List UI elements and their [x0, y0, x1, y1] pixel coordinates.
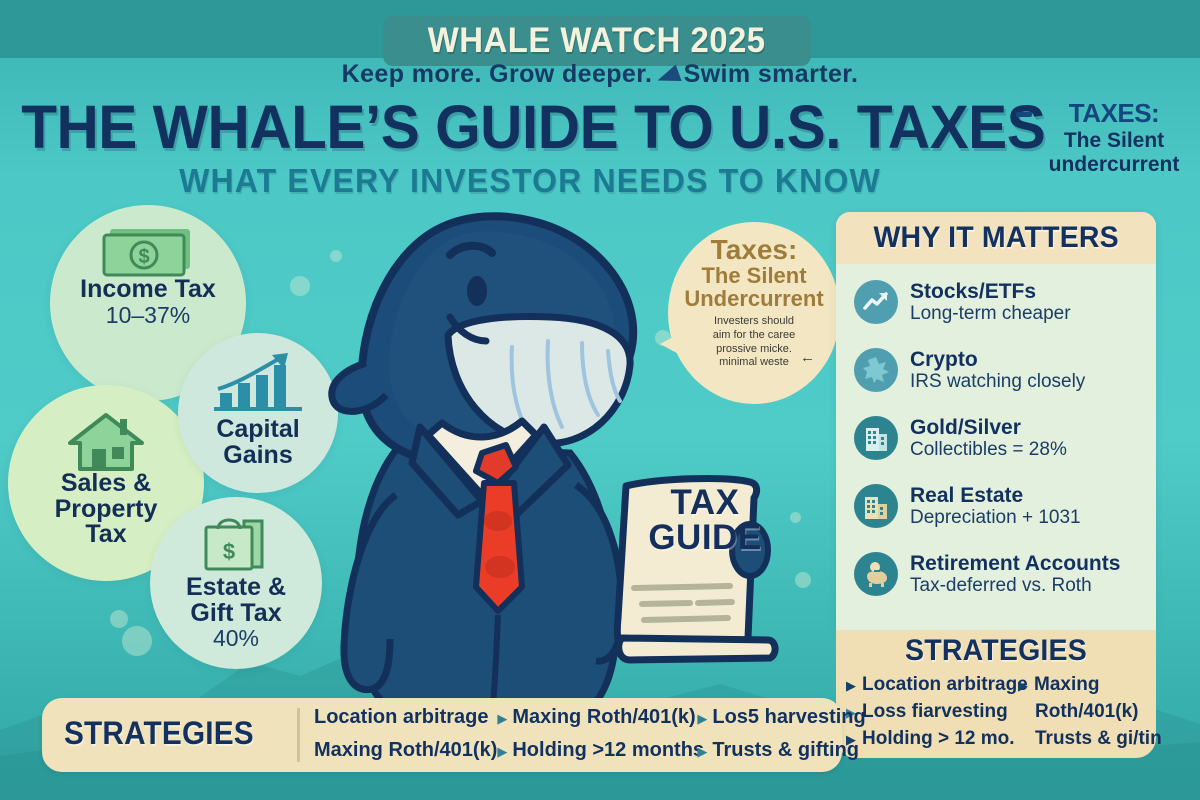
- tagline: Keep more. Grow deeper. ◀ Swim smarter.: [0, 60, 1200, 89]
- speech-line3: Undercurrent: [684, 287, 823, 310]
- strategy-label: Holding >12 months: [512, 739, 704, 762]
- corner-note: TAXES: The Silent undercurrent: [1034, 98, 1194, 177]
- list-item-title: Stocks/ETFs: [910, 280, 1071, 303]
- circle-title-line1: Sales &: [61, 471, 151, 497]
- whale-fin-icon: ◀: [654, 60, 683, 91]
- circle-title-line1: Capital: [216, 417, 299, 443]
- scroll-line2: GUIDE: [640, 520, 770, 555]
- piggy-bank-icon: [854, 552, 898, 596]
- strategy-item[interactable]: Roth/401(k): [1018, 701, 1148, 723]
- strategy-label: Location arbitrage: [862, 674, 1028, 696]
- banknote-icon: $: [50, 225, 246, 277]
- strategy-item[interactable]: ▶ Maxing Roth/401(k): [497, 706, 697, 733]
- strategy-item[interactable]: Trusts & gi/tin: [1018, 728, 1148, 750]
- list-item-title: Real Estate: [910, 484, 1081, 507]
- tagline-after: Swim smarter.: [684, 60, 859, 88]
- strategy-column: ▶ Los5 harvesting ▶ Trusts & gifting: [697, 706, 865, 766]
- speech-bubble: Taxes: The Silent Undercurrent Investers…: [668, 222, 840, 404]
- svg-text:$: $: [138, 246, 149, 268]
- strategy-label: Los5 harvesting: [712, 706, 865, 729]
- circle-value: 40%: [213, 626, 259, 650]
- deco-bubble: [122, 626, 152, 656]
- circle-title-line2: Property: [55, 497, 158, 523]
- triangle-bullet-icon: ▶: [846, 679, 856, 692]
- panel-header: WHY IT MATTERS: [836, 212, 1156, 264]
- list-item-sub: IRS watching closely: [910, 371, 1085, 393]
- infographic-canvas: WHALE WATCH 2025 Keep more. Grow deeper.…: [0, 0, 1200, 800]
- panel-title: WHY IT MATTERS: [873, 221, 1118, 255]
- crypto-star-icon: [854, 348, 898, 392]
- strategy-label: Roth/401(k): [1035, 701, 1138, 723]
- speech-small-line2: aim for the caree: [713, 329, 796, 343]
- bottom-strategies-title: STRATEGIES: [64, 715, 254, 752]
- page-title: THE WHALE’S GUIDE TO U.S. TAXES: [21, 92, 1039, 162]
- triangle-bullet-icon: ▶: [497, 745, 507, 758]
- strategy-item[interactable]: ▶ Holding > 12 mo.: [846, 728, 1018, 750]
- vertical-divider: [297, 708, 300, 762]
- strategy-item[interactable]: ▶ Location arbitrage: [846, 674, 1018, 696]
- list-item-sub: Long-term cheaper: [910, 303, 1071, 325]
- speech-small-line4: minimal weste: [713, 356, 796, 370]
- list-item-text: Crypto IRS watching closely: [910, 348, 1085, 393]
- tax-circle-estate-gift[interactable]: $ Estate & Gift Tax 40%: [150, 497, 322, 669]
- why-it-matters-panel: WHY IT MATTERS Stocks/ETFs Long-term che…: [836, 212, 1156, 630]
- list-item[interactable]: Crypto IRS watching closely: [836, 336, 1156, 404]
- right-strategies-title: STRATEGIES: [844, 630, 1148, 668]
- scroll-line1: TAX: [640, 485, 770, 520]
- bottom-strategies-columns: Location arbitrage Maxing Roth/401(k) ▶ …: [314, 706, 834, 766]
- why-it-matters-list: Stocks/ETFs Long-term cheaper Crypto IRS…: [836, 268, 1156, 608]
- strategy-item[interactable]: ▶ Holding >12 months: [497, 739, 697, 766]
- circle-title: Income Tax: [80, 277, 216, 303]
- strategy-label: Maxing Roth/401(k): [314, 739, 497, 762]
- speech-small-line1: Investers should: [713, 315, 796, 329]
- right-strategies-panel: STRATEGIES ▶ Location arbitrage ▶ Maxing…: [836, 630, 1156, 758]
- strategy-row: ▶ Location arbitrage ▶ Maxing: [846, 674, 1148, 701]
- strategy-row: ▶ Holding > 12 mo. Trusts & gi/tin: [846, 728, 1148, 755]
- circle-value: 10–37%: [106, 303, 190, 327]
- bottom-strategies-bar: STRATEGIES Location arbitrage Maxing Rot…: [42, 698, 842, 772]
- list-item[interactable]: Gold/Silver Collectibles = 28%: [836, 404, 1156, 472]
- shopping-bag-icon: $: [150, 513, 322, 573]
- building-icon: [854, 416, 898, 460]
- corner-note-line1: TAXES:: [1034, 98, 1194, 129]
- speech-small-text: Investers should aim for the caree pross…: [713, 315, 796, 370]
- list-item[interactable]: Stocks/ETFs Long-term cheaper: [836, 268, 1156, 336]
- triangle-bullet-icon: ▶: [697, 712, 707, 725]
- list-item-title: Crypto: [910, 348, 1085, 371]
- triangle-bullet-icon: ▶: [1018, 679, 1028, 692]
- strategy-row: ▶ Loss fiarvesting Roth/401(k): [846, 701, 1148, 728]
- circle-title-line2: Gains: [223, 443, 292, 469]
- tagline-before: Keep more. Grow deeper.: [342, 60, 653, 88]
- speech-line1: Taxes:: [711, 236, 798, 264]
- strategy-label: Location arbitrage: [314, 706, 488, 729]
- strategy-item[interactable]: Maxing Roth/401(k): [314, 739, 497, 766]
- strategy-item[interactable]: Location arbitrage: [314, 706, 497, 733]
- strategy-item[interactable]: ▶ Los5 harvesting: [697, 706, 865, 733]
- corner-note-line2: The Silent: [1034, 129, 1194, 153]
- list-item-title: Gold/Silver: [910, 416, 1067, 439]
- strategy-label: Trusts & gi/tin: [1035, 728, 1162, 750]
- corner-dash: [1016, 112, 1032, 117]
- scroll-text: TAX GUIDE: [640, 485, 770, 555]
- strategy-item[interactable]: ▶ Loss fiarvesting: [846, 701, 1018, 723]
- strategy-item[interactable]: ▶ Trusts & gifting: [697, 739, 865, 766]
- banner-title: WHALE WATCH 2025: [428, 21, 766, 61]
- whale-watch-banner: WHALE WATCH 2025: [383, 16, 811, 66]
- circle-title-line1: Estate &: [186, 575, 286, 601]
- strategy-label: Holding > 12 mo.: [862, 728, 1015, 750]
- list-item[interactable]: Real Estate Depreciation + 1031: [836, 472, 1156, 540]
- list-item-sub: Tax-deferred vs. Roth: [910, 575, 1120, 597]
- list-item-text: Retirement Accounts Tax-deferred vs. Rot…: [910, 552, 1120, 597]
- circle-title-line3: Tax: [85, 522, 126, 548]
- svg-text:$: $: [223, 539, 235, 564]
- corner-note-line3: undercurrent: [1034, 153, 1194, 177]
- list-item[interactable]: Retirement Accounts Tax-deferred vs. Rot…: [836, 540, 1156, 608]
- strategy-column: ▶ Maxing Roth/401(k) ▶ Holding >12 month…: [497, 706, 697, 766]
- triangle-bullet-icon: ▶: [497, 712, 507, 725]
- trend-arrow-icon: [854, 280, 898, 324]
- strategy-column: Location arbitrage Maxing Roth/401(k): [314, 706, 497, 766]
- list-item-text: Gold/Silver Collectibles = 28%: [910, 416, 1067, 461]
- city-buildings-icon: [854, 484, 898, 528]
- deco-bubble: [110, 610, 128, 628]
- list-item-sub: Collectibles = 28%: [910, 439, 1067, 461]
- list-item-sub: Depreciation + 1031: [910, 507, 1081, 529]
- strategy-label: Maxing: [1034, 674, 1099, 696]
- speech-small-line3: prossive micke.: [713, 343, 796, 357]
- list-item-text: Real Estate Depreciation + 1031: [910, 484, 1081, 529]
- strategy-label: Maxing Roth/401(k): [512, 706, 695, 729]
- list-item-title: Retirement Accounts: [910, 552, 1120, 575]
- right-strategies-grid: ▶ Location arbitrage ▶ Maxing ▶ Loss fia…: [846, 674, 1148, 755]
- strategy-label: Loss fiarvesting: [862, 701, 1008, 723]
- house-icon: [8, 411, 204, 473]
- left-arrow-icon: ←: [800, 349, 815, 366]
- list-item-text: Stocks/ETFs Long-term cheaper: [910, 280, 1071, 325]
- strategy-label: Trusts & gifting: [712, 739, 859, 762]
- strategy-item[interactable]: ▶ Maxing: [1018, 674, 1148, 696]
- speech-line2: The Silent: [701, 264, 806, 287]
- triangle-bullet-icon: ▶: [697, 745, 707, 758]
- circle-title-line2: Gift Tax: [190, 601, 281, 627]
